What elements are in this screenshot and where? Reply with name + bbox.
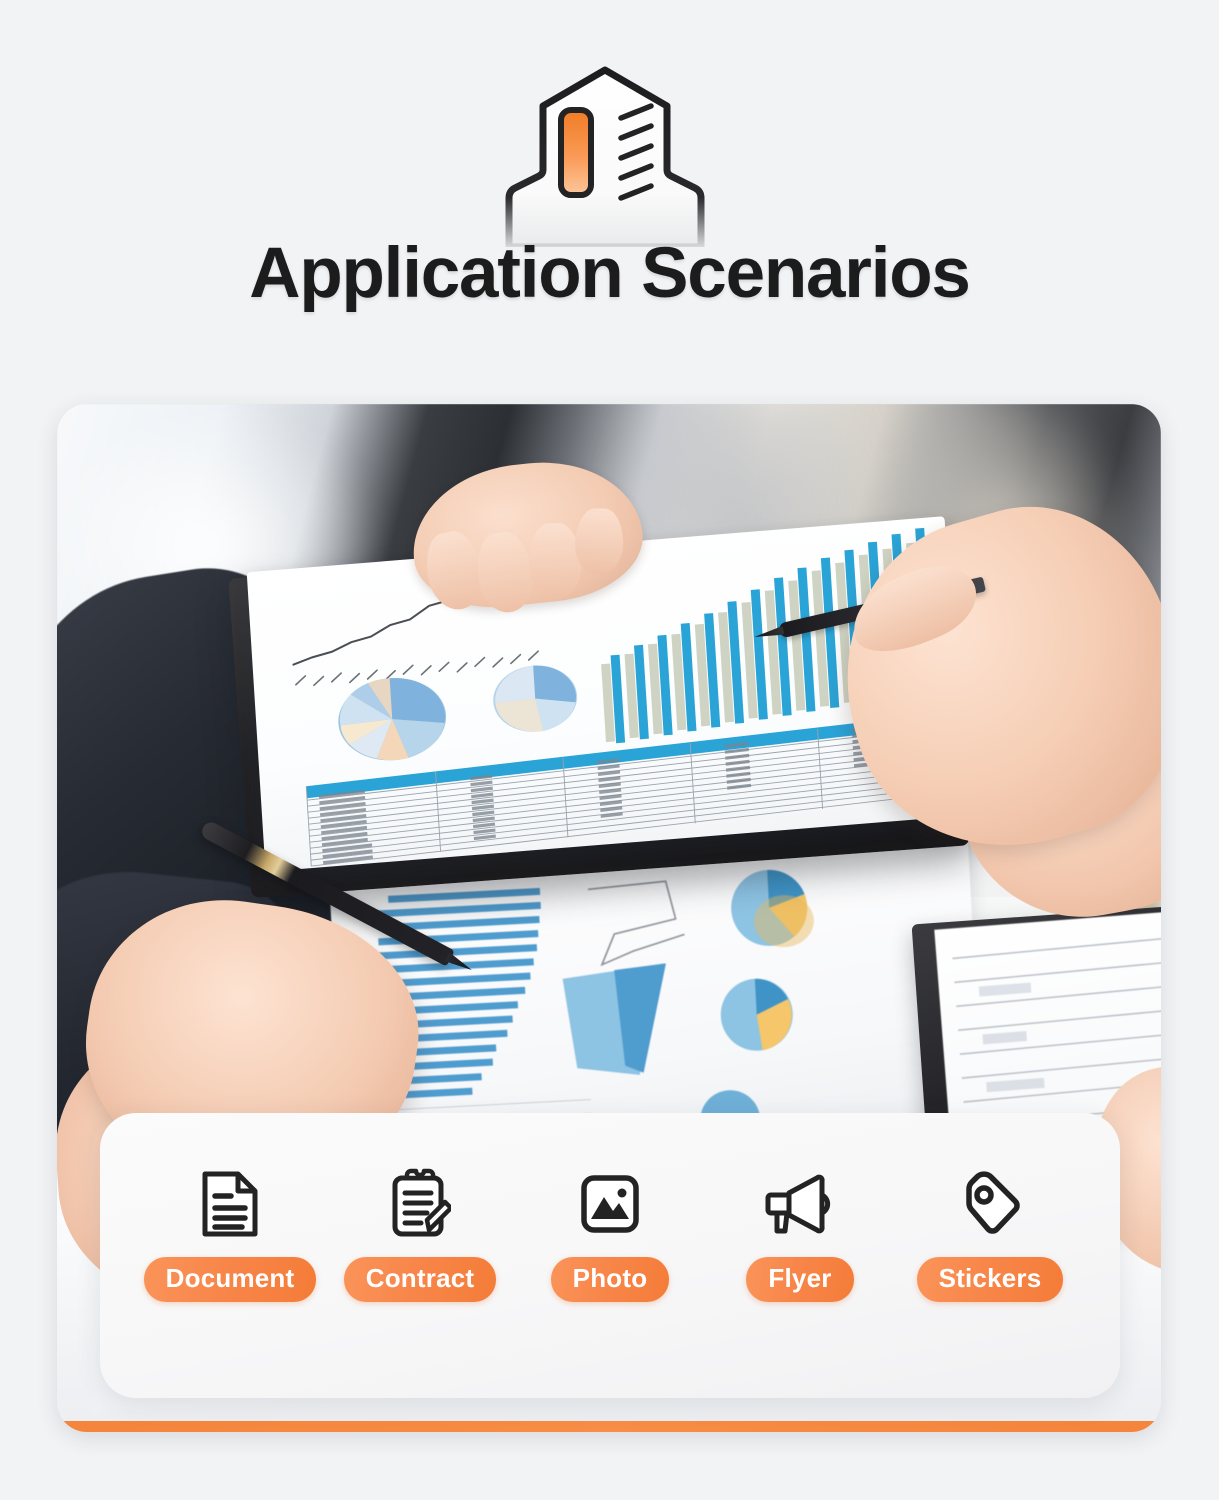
megaphone-icon	[764, 1165, 836, 1243]
scenario-label-stickers[interactable]: Stickers	[917, 1257, 1064, 1302]
scenario-item-stickers[interactable]: Stickers	[895, 1165, 1085, 1302]
scenario-label-document[interactable]: Document	[144, 1257, 317, 1302]
clipboard-pen-icon	[384, 1165, 456, 1243]
scenario-label-flyer[interactable]: Flyer	[746, 1257, 853, 1302]
scenario-item-contract[interactable]: Contract	[325, 1165, 515, 1302]
scenario-item-photo[interactable]: Photo	[515, 1165, 705, 1302]
price-tag-icon	[954, 1165, 1026, 1243]
scenario-item-flyer[interactable]: Flyer	[705, 1165, 895, 1302]
scenario-label-photo[interactable]: Photo	[551, 1257, 670, 1302]
image-icon	[574, 1165, 646, 1243]
page-header: Application Scenarios	[0, 0, 1219, 392]
page-title: Application Scenarios	[249, 238, 969, 309]
finger	[527, 522, 583, 601]
scenario-label-contract[interactable]: Contract	[344, 1257, 497, 1302]
building-tower-icon	[495, 62, 715, 247]
application-scenarios-panel: Document	[100, 1113, 1120, 1398]
report-pie-chart-1	[336, 674, 449, 765]
page-title-row: Application Scenarios	[0, 238, 1219, 309]
page-root: Application Scenarios	[0, 0, 1219, 1500]
report-pie-chart-2	[491, 662, 579, 735]
scenario-item-document[interactable]: Document	[135, 1165, 325, 1302]
scenario-tag-list: Document	[100, 1165, 1120, 1302]
document-icon	[194, 1165, 266, 1243]
finger	[574, 508, 624, 576]
finger	[473, 529, 538, 616]
